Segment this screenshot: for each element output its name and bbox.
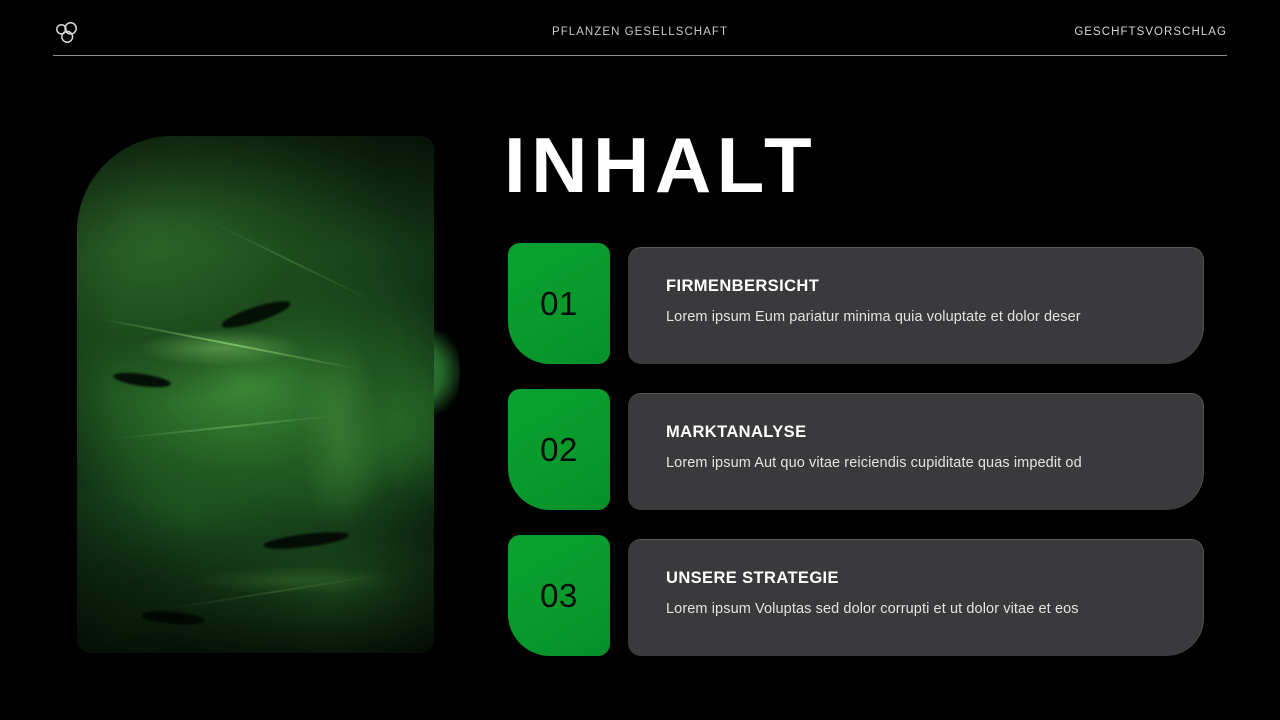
agenda-info-card[interactable]: FIRMENBERSICHT Lorem ipsum Eum pariatur … [628, 247, 1204, 364]
agenda-item-01[interactable]: 01 FIRMENBERSICHT Lorem ipsum Eum pariat… [508, 243, 1208, 364]
agenda-item-02[interactable]: 02 MARKTANALYSE Lorem ipsum Aut quo vita… [508, 389, 1208, 510]
header-divider [53, 55, 1227, 56]
agenda-number-tile: 02 [508, 389, 610, 510]
agenda-item-03[interactable]: 03 UNSERE STRATEGIE Lorem ipsum Voluptas… [508, 535, 1208, 656]
agenda-number-tile: 01 [508, 243, 610, 364]
agenda-list: 01 FIRMENBERSICHT Lorem ipsum Eum pariat… [508, 243, 1208, 681]
agenda-number-label: 02 [540, 431, 578, 469]
agenda-item-description: Lorem ipsum Voluptas sed dolor corrupti … [666, 601, 1173, 617]
slide-header: PFLANZEN GESELLSCHAFT GESCHFTSVORSCHLAG [0, 0, 1280, 62]
agenda-item-description: Lorem ipsum Eum pariatur minima quia vol… [666, 309, 1173, 325]
agenda-number-tile: 03 [508, 535, 610, 656]
page-title: INHALT [504, 126, 817, 204]
agenda-info-card[interactable]: UNSERE STRATEGIE Lorem ipsum Voluptas se… [628, 539, 1204, 656]
agenda-item-description: Lorem ipsum Aut quo vitae reiciendis cup… [666, 455, 1173, 471]
header-document-type-label: GESCHFTSVORSCHLAG [1074, 26, 1227, 38]
agenda-number-label: 01 [540, 285, 578, 323]
photo-vignette [77, 136, 434, 653]
agenda-item-title: MARKTANALYSE [666, 423, 1173, 442]
agenda-number-label: 03 [540, 577, 578, 615]
monstera-leaves-photo [77, 136, 434, 653]
agenda-item-title: UNSERE STRATEGIE [666, 569, 1173, 588]
agenda-item-title: FIRMENBERSICHT [666, 277, 1173, 296]
agenda-info-card[interactable]: MARKTANALYSE Lorem ipsum Aut quo vitae r… [628, 393, 1204, 510]
